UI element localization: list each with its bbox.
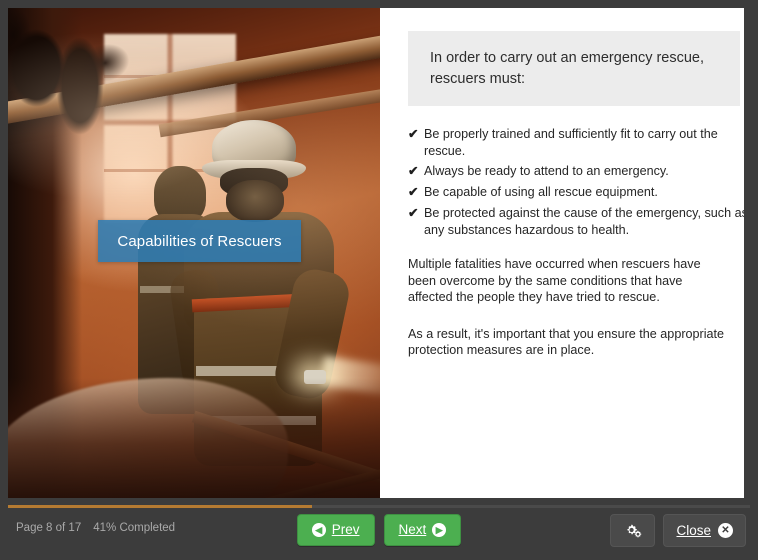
player-navigation-bar: Page 8 of 17 41% Completed ◀ Prev Next ▶ (0, 498, 758, 560)
close-circle-icon: ✕ (718, 523, 733, 538)
progress-bar-fill (8, 505, 312, 508)
content-scrollbar[interactable] (744, 8, 750, 498)
chevron-left-circle-icon: ◀ (312, 523, 326, 537)
settings-button[interactable] (610, 514, 655, 547)
image-title-banner: Capabilities of Rescuers (98, 220, 301, 262)
list-item-label: Be capable of using all rescue equipment… (424, 184, 658, 201)
image-title-text: Capabilities of Rescuers (117, 233, 281, 250)
list-item: ✔ Be capable of using all rescue equipme… (408, 184, 748, 201)
close-button[interactable]: Close ✕ (663, 514, 746, 547)
nav-right-buttons: Close ✕ (610, 514, 746, 547)
list-item: ✔ Always be ready to attend to an emerge… (408, 163, 748, 180)
slide-stage: Capabilities of Rescuers In order to car… (8, 8, 750, 498)
next-button-label: Next (399, 522, 427, 537)
list-item: ✔ Be properly trained and sufficiently f… (408, 126, 748, 159)
progress-bar-track (8, 505, 750, 508)
paragraph-protection: As a result, it's important that you ens… (408, 326, 726, 359)
check-icon: ✔ (408, 163, 424, 180)
prev-button[interactable]: ◀ Prev (297, 514, 375, 546)
next-button[interactable]: Next ▶ (384, 514, 462, 546)
list-item: ✔ Be protected against the cause of the … (408, 205, 748, 238)
gears-icon (623, 522, 642, 538)
close-button-label: Close (676, 523, 711, 538)
slide-content-panel: In order to carry out an emergency rescu… (380, 8, 750, 498)
list-item-label: Be protected against the cause of the em… (424, 205, 748, 238)
content-header-box: In order to carry out an emergency rescu… (408, 31, 740, 106)
chevron-right-circle-icon: ▶ (432, 523, 446, 537)
content-heading-text: In order to carry out an emergency rescu… (430, 48, 718, 90)
check-icon: ✔ (408, 205, 424, 222)
list-item-label: Be properly trained and sufficiently fit… (424, 126, 748, 159)
course-player-frame: Capabilities of Rescuers In order to car… (0, 0, 758, 560)
list-item-label: Always be ready to attend to an emergenc… (424, 163, 669, 180)
paragraph-fatalities: Multiple fatalities have occurred when r… (408, 256, 726, 306)
content-body: ✔ Be properly trained and sufficiently f… (408, 126, 748, 359)
prev-button-label: Prev (332, 522, 360, 537)
check-icon: ✔ (408, 126, 424, 143)
slide-photo-panel: Capabilities of Rescuers (8, 8, 380, 498)
requirements-list: ✔ Be properly trained and sufficiently f… (408, 126, 748, 238)
check-icon: ✔ (408, 184, 424, 201)
